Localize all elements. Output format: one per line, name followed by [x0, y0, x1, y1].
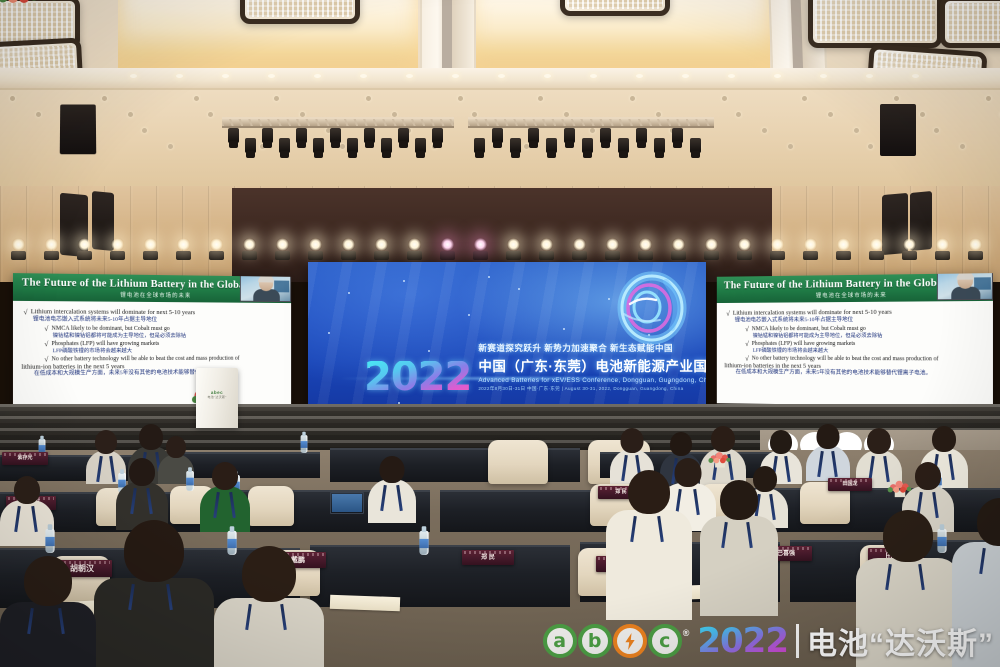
- bullet-text-cn: 在低成本和大规模生产方面，未来5年没有其他的电池技术能够替代锂离子电池。: [736, 370, 932, 377]
- nameplate-text: 巴喜强: [777, 551, 795, 557]
- led-year: 2022: [364, 361, 471, 394]
- wash-light-base: [935, 251, 950, 260]
- laptop: [330, 492, 364, 514]
- person-head: [977, 498, 1000, 546]
- ceiling-downlight: [36, 112, 41, 117]
- ceiling-downlight: [10, 96, 15, 101]
- person-head: [124, 520, 184, 582]
- wash-light-base: [506, 251, 521, 260]
- chandelier: [808, 0, 942, 48]
- ceiling-downlight: [538, 96, 543, 101]
- moving-head-light: [582, 138, 593, 153]
- wash-light-base: [110, 251, 125, 260]
- check-icon: √: [44, 325, 48, 333]
- ceiling-downlight: [722, 96, 727, 101]
- stage-wash-light: [738, 238, 751, 251]
- abec-letter-c: c: [648, 624, 682, 658]
- person-head: [817, 424, 840, 449]
- audience-member: [806, 424, 850, 485]
- wash-light-base: [671, 251, 686, 260]
- water-bottle: [301, 435, 308, 453]
- check-icon: √: [745, 341, 749, 348]
- led-star: [348, 292, 350, 294]
- moving-head-light: [690, 138, 701, 153]
- chandelier: [240, 0, 360, 24]
- recess-downlight: [268, 74, 275, 78]
- ceiling-downlight: [142, 128, 147, 133]
- person-head: [129, 458, 155, 486]
- led-slogan: 新赛道探究跃升 新势力加速聚合 新生态赋能中国: [478, 342, 706, 354]
- abec-letter-b: b: [578, 624, 612, 658]
- podium-logo: abec 电池“达沃斯”: [204, 390, 230, 399]
- moving-head-light: [279, 138, 290, 153]
- recess-downlight: [406, 74, 413, 78]
- wash-light-base: [638, 251, 653, 260]
- led-title-english: Advanced Batteries for xEV/ESS Conferenc…: [478, 377, 706, 384]
- recess-downlight: [498, 74, 505, 78]
- moving-head-light: [262, 128, 273, 143]
- nameplate-text: 紫存光: [17, 456, 32, 461]
- ceiling-downlight: [366, 96, 371, 101]
- nameplate: 田国龙: [828, 478, 872, 491]
- watermark-tagline: 电池“达沃斯”: [807, 619, 994, 663]
- watermark-year: 2022: [697, 621, 788, 661]
- stage-wash-light: [837, 238, 850, 251]
- wash-light-base: [770, 251, 785, 260]
- recess-downlight: [636, 74, 643, 78]
- podium: abec 电池“达沃斯”: [196, 368, 238, 428]
- wash-light-base: [440, 251, 455, 260]
- wash-light-base: [374, 251, 389, 260]
- wash-light-base: [902, 251, 917, 260]
- nameplate: 郑 民: [462, 550, 514, 565]
- person-head: [166, 436, 186, 458]
- chandelier: [560, 0, 670, 16]
- wash-light-base: [275, 251, 290, 260]
- ceiling-downlight: [274, 96, 279, 101]
- audience-member: [368, 456, 416, 527]
- nameplate-text: 田国龙: [842, 482, 857, 487]
- ceiling-downlight: [194, 96, 199, 101]
- lighting-truss: [222, 117, 454, 128]
- stage-wash-light: [342, 238, 355, 251]
- ceiling-downlight: [736, 112, 741, 117]
- bullet-text-cn: LFP磷酸铁锂的市场将会越来越大: [53, 349, 132, 355]
- person-head: [883, 510, 933, 562]
- person-head: [915, 462, 941, 490]
- stage-wash-light: [771, 238, 784, 251]
- chandelier: [940, 0, 1000, 48]
- wash-light-base: [737, 251, 752, 260]
- stage-wash-light: [12, 238, 25, 251]
- projection-screen-left: The Future of the Lithium Battery in the…: [13, 273, 291, 409]
- ceiling-downlight: [828, 112, 833, 117]
- speaker-video-inset: [240, 273, 291, 302]
- audience-member: [606, 470, 692, 624]
- abec-logo: a b c ®: [543, 624, 690, 658]
- person-torso: [214, 598, 324, 667]
- slide-bullet-cn: 在低成本和大规模生产方面，未来5年没有其他的电池技术能够替代锂离子电池。: [736, 370, 985, 378]
- stage-wash-light: [408, 238, 421, 251]
- stage-wash-light: [144, 238, 157, 251]
- audience-chair: [248, 486, 294, 526]
- slide-title-chinese: 锂电池在全球市场的未来: [120, 290, 191, 299]
- person-head: [242, 546, 296, 602]
- recess-downlight: [130, 74, 137, 78]
- person-head: [720, 480, 758, 520]
- table-flower-arrangement: [885, 478, 915, 501]
- wash-light-base: [869, 251, 884, 260]
- wash-light-base: [308, 251, 323, 260]
- check-icon: √: [745, 326, 749, 333]
- moving-head-light: [330, 128, 341, 143]
- person-head: [932, 426, 956, 452]
- wash-light-base: [209, 251, 224, 260]
- moving-head-light: [654, 138, 665, 153]
- document-paper: [330, 595, 400, 611]
- led-star: [403, 280, 405, 282]
- registered-mark: ®: [683, 628, 690, 638]
- wash-light-base: [704, 251, 719, 260]
- moving-head-light: [296, 128, 307, 143]
- led-star: [328, 332, 330, 334]
- recess-downlight: [728, 74, 735, 78]
- wash-light-base: [572, 251, 587, 260]
- recess-downlight: [912, 74, 919, 78]
- stage-wash-light: [936, 238, 949, 251]
- wash-light-base: [407, 251, 422, 260]
- person-head: [770, 430, 792, 454]
- wash-light-base: [242, 251, 257, 260]
- ceiling-downlight: [960, 144, 965, 149]
- stage-wash-light: [573, 238, 586, 251]
- stage-wash-light: [903, 238, 916, 251]
- moving-head-light: [492, 128, 503, 143]
- slide-title-bar: The Future of the Lithium Battery in the…: [13, 273, 291, 303]
- slide-bullet-cn: 在低成本和大规模生产方面，未来5年没有其他的电池技术能够替代锂离子电池。: [34, 370, 284, 378]
- bullet-text-cn: 锂电池电芯嵌入式系统将未来5-10年占据主导地位: [735, 318, 853, 324]
- abec-letter-a: a: [543, 624, 577, 658]
- audience-member: [94, 520, 214, 667]
- nameplate-text: 郑 民: [481, 555, 495, 561]
- slide-bullet-cn: 锂电池电芯嵌入式系统将未来5-10年占据主导地位: [23, 317, 283, 324]
- person-torso: [606, 510, 692, 620]
- recess-downlight: [774, 74, 781, 78]
- person-head: [867, 428, 891, 454]
- slide-body: √ Lithium intercalation systems will dom…: [717, 301, 993, 382]
- ceiling-downlight: [868, 144, 873, 149]
- stage-wash-light: [870, 238, 883, 251]
- recess-downlight: [820, 74, 827, 78]
- led-star: [563, 328, 565, 330]
- stage-wash-light: [276, 238, 289, 251]
- person-torso: [700, 516, 778, 616]
- person-head: [95, 430, 117, 454]
- ceiling-downlight: [920, 112, 925, 117]
- ceiling-downlight: [788, 144, 793, 149]
- led-star: [468, 314, 470, 316]
- stage-wash-light: [111, 238, 124, 251]
- recess-downlight: [314, 74, 321, 78]
- stage-wash-light: [78, 238, 91, 251]
- check-icon: √: [44, 341, 48, 349]
- slide-body: √ Lithium intercalation systems will dom…: [13, 301, 291, 382]
- stage-wash-light: [210, 238, 223, 251]
- person-head: [212, 462, 238, 490]
- recess-downlight: [222, 74, 229, 78]
- ceiling-downlight: [168, 144, 173, 149]
- wash-light-base: [143, 251, 158, 260]
- stage-wash-light: [540, 238, 553, 251]
- led-title-chinese: 中国（广东·东莞）电池新能源产业国际论坛: [478, 355, 706, 375]
- speaker-video-inset: [937, 273, 993, 300]
- stage-wash-light: [804, 238, 817, 251]
- slide-bullet-cn: 镍钴锰和镍钴铝都将可能成为主导地位，但是必须去除钴: [44, 333, 283, 339]
- moving-head-light: [564, 128, 575, 143]
- person-head: [14, 476, 40, 504]
- person-head: [621, 428, 644, 453]
- water-bottle: [186, 471, 194, 491]
- person-head: [711, 426, 735, 452]
- moving-head-light: [347, 138, 358, 153]
- person-head: [670, 432, 692, 456]
- bullet-text-cn: 镍钴锰和镍钴铝都将可能成为主导地位，但是必须去除钴: [753, 334, 883, 340]
- wash-light-base: [605, 251, 620, 260]
- recess-downlight: [866, 74, 873, 78]
- led-star: [518, 288, 520, 290]
- ceiling-downlight: [934, 128, 939, 133]
- recess-downlight: [682, 74, 689, 78]
- ceiling-downlight: [986, 96, 991, 101]
- stage-wash-light: [441, 238, 454, 251]
- line-array-speaker: [60, 104, 96, 154]
- moving-head-light: [228, 128, 239, 143]
- wash-light-base: [77, 251, 92, 260]
- moving-head-light: [415, 138, 426, 153]
- stage-wash-light: [474, 238, 487, 251]
- recess-downlight: [176, 74, 183, 78]
- lightning-bolt-icon: [623, 633, 637, 650]
- lighting-truss: [468, 117, 714, 128]
- moving-head-light: [432, 128, 443, 143]
- check-icon: √: [726, 311, 730, 318]
- watermark-divider: [796, 624, 799, 658]
- bullet-text-cn: 镍钴锰和镍钴铝都将可能成为主导地位，但是必须去除钴: [53, 333, 186, 339]
- stage-wash-light: [969, 238, 982, 251]
- led-screen-text-block: 2022 新赛道探究跃升 新势力加速聚合 新生态赋能中国 中国（广东·东莞）电池…: [364, 342, 706, 394]
- ceiling-downlight: [458, 96, 463, 101]
- water-bottle: [45, 529, 54, 553]
- person-torso: [806, 445, 850, 481]
- ceiling-downlight: [894, 96, 899, 101]
- person-torso: [94, 578, 214, 667]
- ceiling-downlight: [128, 112, 133, 117]
- recess-downlight: [544, 74, 551, 78]
- moving-head-light: [398, 128, 409, 143]
- stage-wash-light: [639, 238, 652, 251]
- moving-head-light: [528, 128, 539, 143]
- recess-downlight: [590, 74, 597, 78]
- slide-bullet-cn: 锂电池电芯嵌入式系统将未来5-10年占据主导地位: [726, 317, 984, 324]
- bullet-text-cn: 锂电池电芯嵌入式系统将未来5-10年占据主导地位: [33, 317, 157, 323]
- nameplate: 紫存光: [2, 452, 48, 465]
- stage-wash-light: [177, 238, 190, 251]
- projection-screen-right: The Future of the Lithium Battery in the…: [717, 273, 993, 407]
- stage-wash-light: [606, 238, 619, 251]
- line-array-speaker: [880, 104, 916, 156]
- ceiling-downlight: [762, 128, 767, 133]
- ceiling-downlight: [340, 144, 345, 149]
- head-chair: [488, 440, 548, 484]
- moving-head-light: [618, 138, 629, 153]
- slide-bullet-cn: LFP磷酸铁锂的市场将会越来越大: [44, 349, 283, 355]
- audience-member: [0, 556, 96, 667]
- stage-wash-light: [672, 238, 685, 251]
- led-date-line: 2022年8月30日-31日 中国·广东·东莞 | August 30-31, …: [478, 386, 706, 392]
- ceiling-soffit: [0, 68, 1000, 90]
- check-icon: √: [23, 309, 27, 317]
- wash-light-base: [803, 251, 818, 260]
- stage-wash-light: [243, 238, 256, 251]
- led-star: [488, 276, 490, 278]
- ceiling-downlight: [102, 96, 107, 101]
- swirl-energy-icon: [604, 268, 690, 352]
- ceiling-downlight: [630, 96, 635, 101]
- moving-head-light: [245, 138, 256, 153]
- stage-wash-light: [375, 238, 388, 251]
- wash-light-base: [836, 251, 851, 260]
- moving-head-light: [600, 128, 611, 143]
- slide-title-bar: The Future of the Lithium Battery in the…: [717, 273, 993, 303]
- moving-head-light: [364, 128, 375, 143]
- moving-head-light: [381, 138, 392, 153]
- watermark-bar: a b c ® 2022 电池“达沃斯”: [488, 615, 1000, 667]
- conference-hall-photo: The Future of the Lithium Battery in the…: [0, 0, 1000, 667]
- water-bottle: [419, 531, 428, 555]
- moving-head-light: [474, 138, 485, 153]
- wash-light-base: [176, 251, 191, 260]
- moving-head-light: [510, 138, 521, 153]
- wash-light-base: [11, 251, 26, 260]
- stage-wash-light-bar: [0, 238, 1000, 264]
- slide-bullet-cn: LFP磷酸铁锂的市场将会越来越大: [745, 349, 984, 355]
- wash-light-base: [539, 251, 554, 260]
- person-head: [24, 556, 72, 606]
- abec-bolt-icon: [613, 624, 647, 658]
- wash-light-base: [44, 251, 59, 260]
- ceiling: [0, 0, 1000, 186]
- person-head: [628, 470, 670, 514]
- stage-wash-light: [45, 238, 58, 251]
- stage-wash-light: [705, 238, 718, 251]
- moving-head-light: [636, 128, 647, 143]
- podium-logo-tagline: 电池“达沃斯”: [204, 395, 230, 399]
- wash-light-base: [473, 251, 488, 260]
- stage-wash-light: [309, 238, 322, 251]
- person-head: [380, 456, 405, 483]
- recess-downlight: [360, 74, 367, 78]
- wash-light-base: [968, 251, 983, 260]
- person-torso: [0, 602, 96, 667]
- audience-member: [214, 546, 324, 667]
- ceiling-downlight: [854, 128, 859, 133]
- slide-title-chinese: 锂电池在全球市场的未来: [816, 290, 887, 299]
- moving-head-light: [672, 128, 683, 143]
- slide-bullet-cn: 镍钴锰和镍钴铝都将可能成为主导地位，但是必须去除钴: [745, 333, 984, 339]
- ceiling-downlight: [208, 112, 213, 117]
- bullet-text-cn: LFP磷酸铁锂的市场将会越来越大: [753, 349, 829, 355]
- audience-member: [700, 480, 778, 620]
- moving-head-light: [546, 138, 557, 153]
- moving-head-light: [313, 138, 324, 153]
- ceiling-downlight: [590, 128, 595, 133]
- podium-flower-arrangement: [0, 0, 50, 6]
- recess-downlight: [452, 74, 459, 78]
- stage-wash-light: [507, 238, 520, 251]
- ceiling-downlight: [802, 96, 807, 101]
- person-torso: [368, 479, 416, 523]
- wash-light-base: [341, 251, 356, 260]
